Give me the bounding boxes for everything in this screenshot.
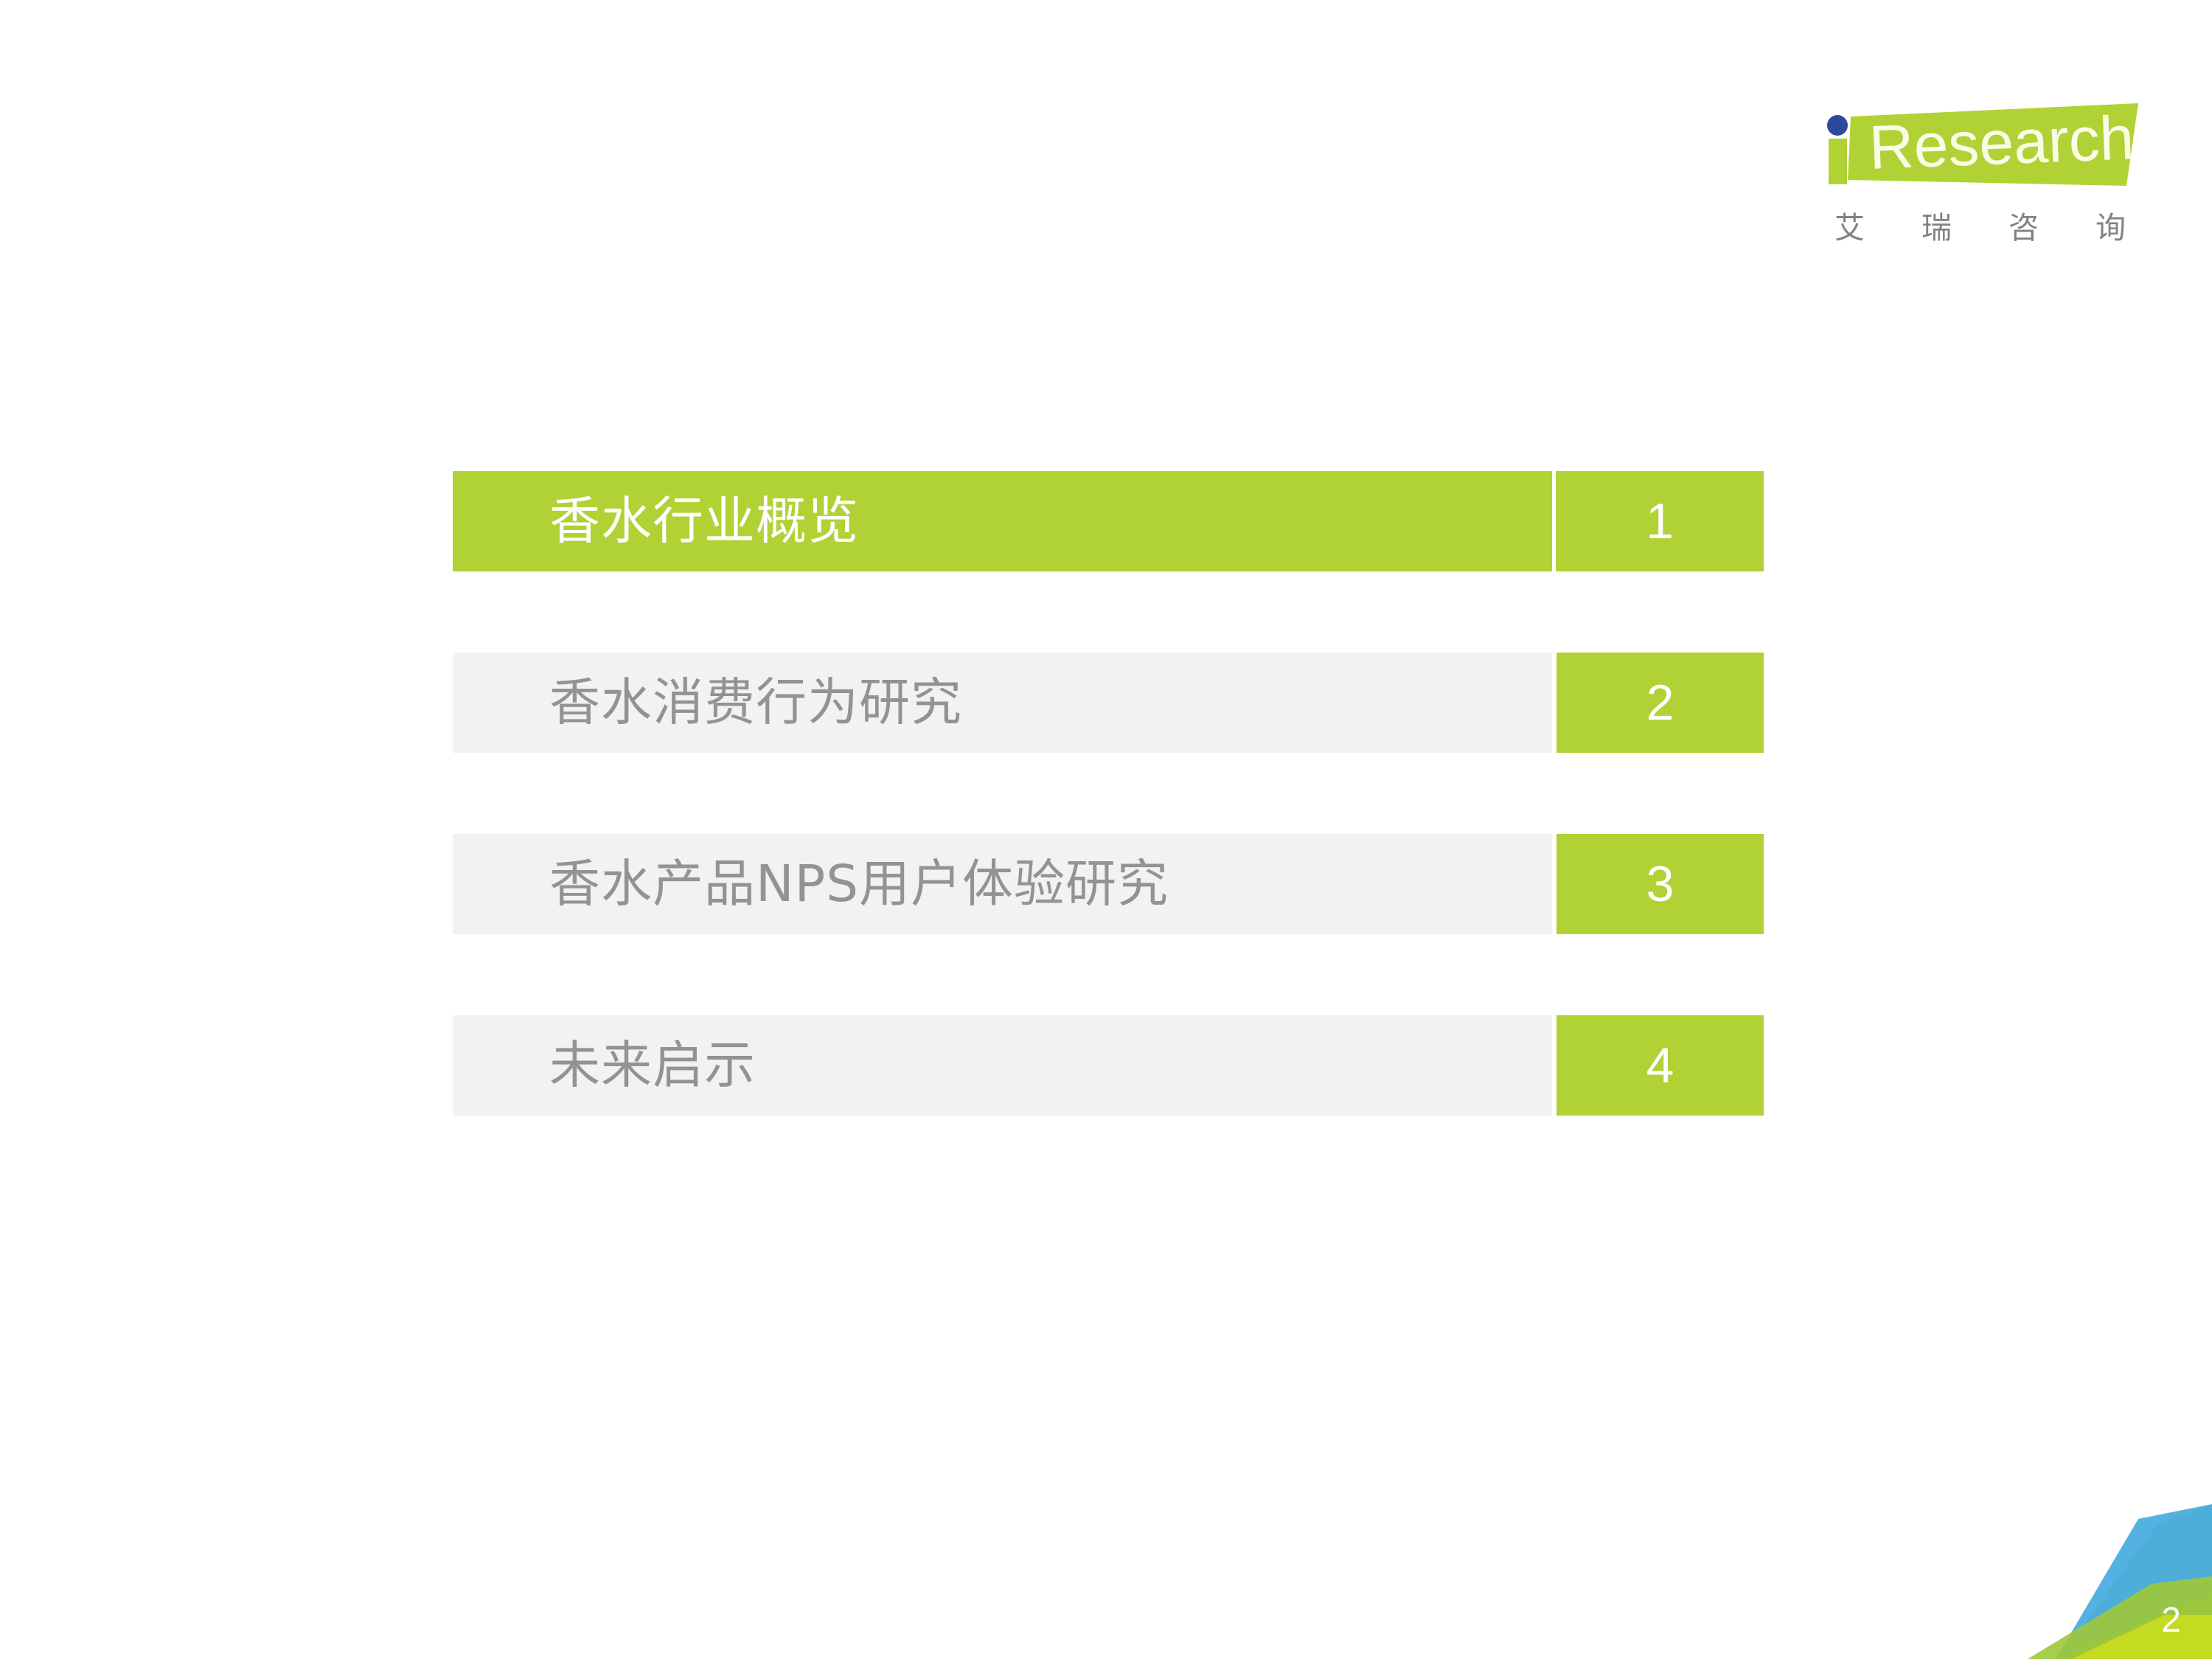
toc-item-3-number: 3 [1557,834,1764,934]
logo-wordmark: Research [1821,96,2138,195]
toc-item-1-label: 香水行业概览 [453,471,1552,571]
toc-item-2[interactable]: 香水消费行为研究 2 [453,653,1764,753]
logo-subtitle: 艾 瑞 咨 询 [1834,203,2126,247]
toc-item-3[interactable]: 香水产品NPS用户体验研究 3 [453,834,1764,934]
logo-sub-char-2: 咨 [2008,203,2039,247]
iresearch-logo: Research 艾 瑞 咨 询 [1821,96,2138,258]
logo-sub-char-3: 询 [2096,203,2126,247]
toc-item-1-number: 1 [1552,471,1764,571]
logo-sub-char-1: 瑞 [1921,203,1952,247]
toc-item-2-number: 2 [1557,653,1764,753]
toc-item-3-label: 香水产品NPS用户体验研究 [453,834,1552,934]
toc-item-4[interactable]: 未来启示 4 [453,1015,1764,1116]
page-number: 2 [2161,1603,2181,1638]
corner-decoration: 2 [2020,1504,2212,1659]
toc-item-4-label: 未来启示 [453,1015,1552,1116]
logo-shape: Research [1821,96,2138,195]
toc-item-4-number: 4 [1557,1015,1764,1116]
toc-item-1[interactable]: 香水行业概览 1 [453,471,1764,571]
table-of-contents: 香水行业概览 1 香水消费行为研究 2 香水产品NPS用户体验研究 3 未来启示… [453,471,1764,1116]
logo-dot-icon [1827,115,1848,136]
corner-stripes-icon [2020,1504,2212,1659]
logo-sub-char-0: 艾 [1834,203,1865,247]
logo-wordmark-text: Research [1868,102,2135,182]
toc-item-2-label: 香水消费行为研究 [453,653,1552,753]
